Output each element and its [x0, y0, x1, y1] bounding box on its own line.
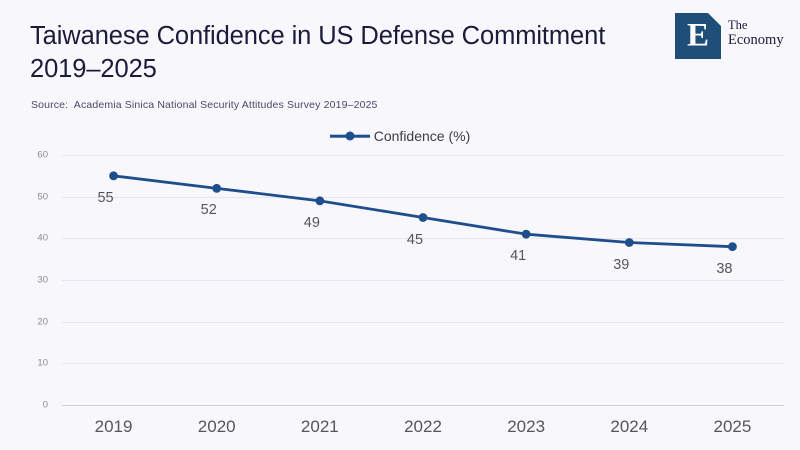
legend-item-confidence[interactable]: Confidence (%) [330, 128, 471, 144]
y-tick-label: 50 [37, 191, 48, 202]
x-tick-label: 2024 [610, 417, 648, 437]
data-point-label: 49 [304, 215, 320, 231]
y-tick-label: 30 [37, 275, 48, 286]
x-tick-label: 2022 [404, 417, 442, 437]
chart-page: Taiwanese Confidence in US Defense Commi… [0, 0, 800, 450]
legend-line-marker-icon [330, 130, 370, 142]
x-tick-label: 2023 [507, 417, 545, 437]
data-point-marker[interactable] [522, 230, 531, 239]
data-point-label: 41 [510, 248, 526, 264]
brand-logo: E The Economy [675, 13, 784, 59]
plot-area: 0102030405060 55524945413938 20192020202… [62, 155, 784, 405]
x-tick-label: 2025 [714, 417, 752, 437]
data-point-label: 55 [97, 190, 113, 206]
logo-corner-notch-icon [708, 13, 721, 26]
data-point-marker[interactable] [728, 242, 737, 251]
y-tick-label: 40 [37, 233, 48, 244]
legend-label: Confidence (%) [374, 128, 471, 144]
data-point-marker[interactable] [212, 184, 221, 193]
series-confidence [62, 155, 784, 405]
data-point-label: 45 [407, 232, 423, 248]
x-tick-label: 2020 [198, 417, 236, 437]
logo-wordmark: The Economy [728, 18, 784, 48]
logo-wordmark-line1: The [728, 18, 784, 32]
chart-legend: Confidence (%) [0, 128, 800, 144]
data-point-marker[interactable] [419, 213, 428, 222]
y-tick-label: 0 [43, 400, 48, 411]
source-caption: Source: Academia Sinica National Securit… [31, 99, 378, 111]
x-tick-label: 2019 [95, 417, 133, 437]
y-tick-label: 20 [37, 316, 48, 327]
page-title: Taiwanese Confidence in US Defense Commi… [30, 20, 710, 86]
y-tick-label: 10 [37, 358, 48, 369]
data-point-label: 52 [201, 202, 217, 218]
data-point-label: 38 [716, 261, 732, 277]
data-point-marker[interactable] [625, 238, 634, 247]
logo-square-icon: E [675, 13, 721, 59]
x-axis-baseline [62, 405, 784, 406]
data-point-marker[interactable] [315, 196, 324, 205]
y-tick-label: 60 [37, 150, 48, 161]
logo-wordmark-line2: Economy [728, 32, 784, 48]
data-point-marker[interactable] [109, 171, 118, 180]
x-tick-label: 2021 [301, 417, 339, 437]
data-point-label: 39 [613, 257, 629, 273]
